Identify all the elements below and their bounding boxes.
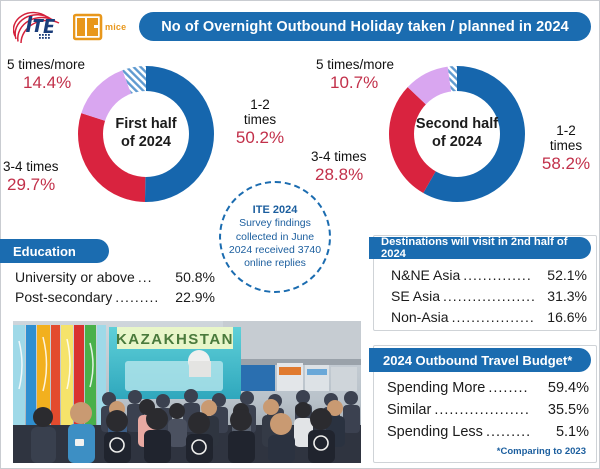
donut1-label-1-2-times: 1-2 times 50.2% bbox=[223, 97, 297, 147]
education-row-label: Post-secondary bbox=[15, 289, 112, 305]
donut-center-line2: of 2024 bbox=[121, 134, 171, 152]
donut1-label-5-times-more: 5 times/more 14.4% bbox=[7, 57, 129, 92]
stamp-line3: 2024 received 3740 bbox=[229, 244, 321, 257]
donut-center-label-second-half: Second half of 2024 bbox=[414, 91, 500, 177]
destination-row-value: 16.6% bbox=[547, 309, 587, 325]
exhibition-photo: KAZAKHSTAN bbox=[13, 321, 361, 463]
list-item: Non-Asia ................. 16.6% bbox=[391, 309, 587, 325]
list-item: Spending More ........ 59.4% bbox=[387, 380, 589, 396]
education-row-value: 22.9% bbox=[175, 289, 215, 305]
stamp-line2: collected in June bbox=[236, 231, 314, 244]
destinations-heading: Destinations will visit in 2nd half of 2… bbox=[369, 237, 591, 259]
list-item: University or above ... 50.8% bbox=[15, 269, 215, 285]
logo-group: mice bbox=[13, 9, 131, 45]
education-heading: Education bbox=[0, 239, 109, 263]
list-item: Post-secondary ......... 22.9% bbox=[15, 289, 215, 305]
budget-heading: 2024 Outbound Travel Budget* bbox=[369, 348, 591, 372]
list-item: Similar ................... 35.5% bbox=[387, 402, 589, 418]
budget-row-label: Spending More bbox=[387, 380, 485, 396]
infographic-root: mice No of Overnight Outbound Holiday ta… bbox=[0, 0, 600, 469]
leader-dots: .............. bbox=[463, 267, 544, 283]
leader-dots: ................. bbox=[452, 309, 545, 325]
donut2-label-5-times-more: 5 times/more 10.7% bbox=[316, 57, 444, 92]
budget-row-label: Spending Less bbox=[387, 424, 483, 440]
list-item: Spending Less ......... 5.1% bbox=[387, 424, 589, 440]
donut2-label-1-2-times: 1-2 times 58.2% bbox=[535, 123, 597, 173]
stamp-line4: online replies bbox=[244, 257, 306, 270]
budget-row-value: 35.5% bbox=[548, 402, 589, 418]
survey-stamp: ITE 2024 Survey findings collected in Ju… bbox=[219, 181, 331, 293]
donut1-label-3-4-times: 3-4 times 29.7% bbox=[3, 159, 107, 194]
budget-rows: Spending More ........ 59.4% Similar ...… bbox=[387, 380, 589, 446]
education-row-value: 50.8% bbox=[175, 269, 215, 285]
leader-dots: ... bbox=[138, 269, 172, 285]
leader-dots: ........ bbox=[488, 380, 545, 396]
budget-footnote: *Comparing to 2023 bbox=[497, 446, 586, 457]
donut-center-line1: First half bbox=[115, 116, 176, 134]
mice-logo-icon: mice bbox=[73, 12, 126, 42]
donut-center-line2: of 2024 bbox=[432, 134, 482, 152]
stamp-line1: Survey findings bbox=[239, 217, 311, 230]
stamp-title: ITE 2024 bbox=[253, 204, 298, 218]
mice-logo-word: mice bbox=[105, 22, 126, 32]
list-item: N&NE Asia .............. 52.1% bbox=[391, 267, 587, 283]
destinations-rows: N&NE Asia .............. 52.1% SE Asia .… bbox=[391, 267, 587, 330]
education-rows: University or above ... 50.8% Post-secon… bbox=[15, 269, 215, 309]
destination-row-label: SE Asia bbox=[391, 288, 440, 304]
leader-dots: ................... bbox=[434, 402, 545, 418]
leader-dots: ......... bbox=[115, 289, 172, 305]
donut2-label-3-4-times: 3-4 times 28.8% bbox=[311, 149, 415, 184]
budget-row-value: 59.4% bbox=[548, 380, 589, 396]
budget-row-value: 5.1% bbox=[556, 424, 589, 440]
ite-logo-icon bbox=[13, 10, 67, 44]
page-title: No of Overnight Outbound Holiday taken /… bbox=[139, 12, 591, 41]
list-item: SE Asia ................... 31.3% bbox=[391, 288, 587, 304]
leader-dots: ................... bbox=[443, 288, 544, 304]
donut-center-label-first-half: First half of 2024 bbox=[103, 91, 189, 177]
budget-row-label: Similar bbox=[387, 402, 431, 418]
donut-center-line1: Second half bbox=[416, 116, 498, 134]
leader-dots: ......... bbox=[486, 424, 553, 440]
education-row-label: University or above bbox=[15, 269, 135, 285]
destination-row-value: 31.3% bbox=[547, 288, 587, 304]
destination-row-value: 52.1% bbox=[547, 267, 587, 283]
svg-text:KAZAKHSTAN: KAZAKHSTAN bbox=[116, 331, 234, 348]
destination-row-label: N&NE Asia bbox=[391, 267, 460, 283]
destination-row-label: Non-Asia bbox=[391, 309, 449, 325]
